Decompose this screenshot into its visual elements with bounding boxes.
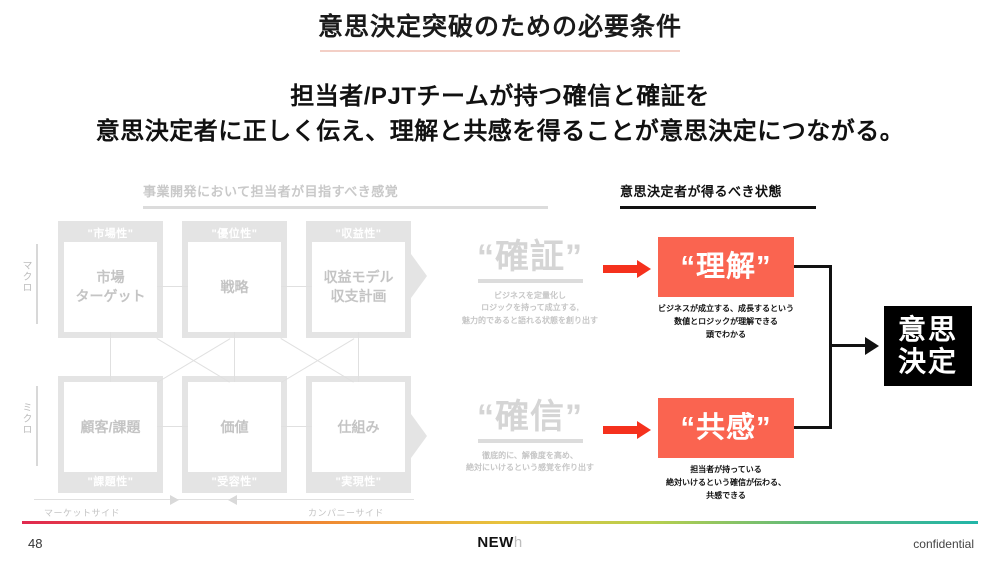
matrix-connector-vertical-0: [110, 332, 111, 382]
term-kakusho-underline: [478, 279, 583, 283]
bracket-vertical: [829, 265, 832, 429]
state-box-understanding-word: “理解”: [680, 253, 771, 282]
state-box-understanding: “理解” ビジネスが成立する、成長するという 数値とロジックが理解できる 頭でわ…: [658, 237, 794, 341]
section-header-right: 意思決定者が得るべき状態: [620, 181, 816, 209]
red-arrow-empathy-shaft: [603, 426, 637, 434]
macro-axis-line: [36, 244, 38, 324]
brand-logo: NEWh: [0, 534, 1000, 551]
brand-logo-bold: NEW: [477, 534, 514, 551]
matrix-connector-top-12: [281, 286, 312, 287]
matrix-cell-top-1: 戦略: [188, 242, 281, 332]
state-box-understanding-fill: “理解”: [658, 237, 794, 297]
matrix-connector-bottom-12: [281, 426, 312, 427]
term-kakushin-word: “確信”: [440, 400, 620, 434]
matrix-cell-top-1-label: 戦略: [221, 278, 249, 297]
term-kakusho-description: ビジネスを定量化し ロジックを持って成立する, 魅力的であると語れる状態を創り出…: [440, 290, 620, 327]
matrix-cell-top-2: 収益モデル収支計画: [312, 242, 405, 332]
matrix-connector-top-01: [157, 286, 188, 287]
title-underline: [320, 50, 680, 52]
confidential-label: confidential: [913, 537, 974, 551]
state-box-understanding-caption: ビジネスが成立する、成長するという 数値とロジックが理解できる 頭でわかる: [658, 303, 794, 341]
section-header-left: 事業開発において担当者が目指すべき感覚: [143, 181, 548, 209]
red-arrow-understanding-shaft: [603, 265, 637, 273]
matrix-top-row-arrow: [411, 254, 427, 298]
footer-gradient-rule: [22, 521, 978, 524]
micro-axis-line: [36, 386, 38, 466]
company-side-label: カンパニーサイド: [308, 506, 384, 519]
micro-axis-label: ミクロ: [20, 402, 30, 435]
section-header-left-label: 事業開発において担当者が目指すべき感覚: [143, 181, 548, 200]
market-side-label: マーケットサイド: [44, 506, 120, 519]
matrix-connector-bottom-01: [157, 426, 188, 427]
state-box-empathy-caption: 担当者が持っている 絶対いけるという確信が伝わる、 共感できる: [658, 464, 794, 502]
decision-box: 意思決定: [884, 306, 972, 386]
state-box-empathy-fill: “共感”: [658, 398, 794, 458]
decision-box-label: 意思決定: [898, 314, 958, 378]
section-header-left-rule: [143, 206, 548, 209]
term-kakushin: “確信” 徹底的に、解像度を高め、 絶対にいけるという感覚を作り出す: [440, 400, 620, 475]
state-box-empathy: “共感” 担当者が持っている 絶対いけるという確信が伝わる、 共感できる: [658, 398, 794, 502]
matrix-cell-bottom-0-label: 顧客/課題: [81, 418, 141, 437]
matrix-connector-vertical-2: [358, 332, 359, 382]
matrix-side-axis-line: [34, 499, 414, 500]
matrix-cell-top-0-label: 市場ターゲット: [76, 268, 146, 306]
subtitle-line-1: 担当者/PJTチームが持つ確信と確証を: [0, 80, 1000, 115]
matrix-cell-bottom-2-label: 仕組み: [338, 418, 380, 437]
business-development-matrix: マクロ ミクロ "市場性" 市場ターゲット "優位性" 戦略 "収益性" 収益モ…: [28, 218, 438, 503]
bracket-decision-shaft: [829, 344, 865, 347]
section-header-right-rule: [620, 206, 816, 209]
bracket-top-horizontal: [794, 265, 832, 268]
macro-axis-label: マクロ: [20, 260, 30, 293]
subtitle-line-2: 意思決定者に正しく伝え、理解と共感を得ることが意思決定につながる。: [0, 115, 1000, 150]
term-kakushin-underline: [478, 439, 583, 443]
matrix-cell-bottom-1: 価値: [188, 382, 281, 472]
matrix-cell-bottom-0: 顧客/課題: [64, 382, 157, 472]
matrix-band-bottom-2-label: "実現性": [306, 473, 411, 489]
matrix-band-bottom-1-label: "受容性": [182, 473, 287, 489]
term-kakusho: “確証” ビジネスを定量化し ロジックを持って成立する, 魅力的であると語れる状…: [440, 240, 620, 327]
matrix-band-top-2-label: "収益性": [306, 225, 411, 241]
matrix-cell-bottom-1-label: 価値: [221, 418, 249, 437]
subtitle-block: 担当者/PJTチームが持つ確信と確証を 意思決定者に正しく伝え、理解と共感を得る…: [0, 80, 1000, 150]
matrix-band-top-0-label: "市場性": [58, 225, 163, 241]
matrix-bottom-row-arrow: [411, 414, 427, 458]
brand-logo-light: h: [514, 534, 523, 551]
bracket-bottom-horizontal: [794, 426, 832, 429]
title-block: 意思決定突破のための必要条件: [0, 14, 1000, 52]
red-arrow-understanding-head: [637, 260, 651, 278]
matrix-cell-top-2-label: 収益モデル収支計画: [324, 268, 394, 306]
matrix-band-top-1-label: "優位性": [182, 225, 287, 241]
matrix-connector-vertical-1: [234, 332, 235, 382]
slide-root: 意思決定突破のための必要条件 担当者/PJTチームが持つ確信と確証を 意思決定者…: [0, 0, 1000, 563]
bracket-decision-arrowhead: [865, 337, 879, 355]
market-side-arrowhead: [170, 495, 179, 505]
matrix-cell-top-0: 市場ターゲット: [64, 242, 157, 332]
company-side-arrowhead: [228, 495, 237, 505]
term-kakusho-word: “確証”: [440, 240, 620, 274]
page-title: 意思決定突破のための必要条件: [0, 14, 1000, 42]
state-box-empathy-word: “共感”: [680, 414, 771, 443]
matrix-cell-bottom-2: 仕組み: [312, 382, 405, 472]
term-kakushin-description: 徹底的に、解像度を高め、 絶対にいけるという感覚を作り出す: [440, 450, 620, 475]
matrix-band-bottom-0-label: "課題性": [58, 473, 163, 489]
section-header-right-label: 意思決定者が得るべき状態: [620, 181, 816, 200]
red-arrow-empathy-head: [637, 421, 651, 439]
